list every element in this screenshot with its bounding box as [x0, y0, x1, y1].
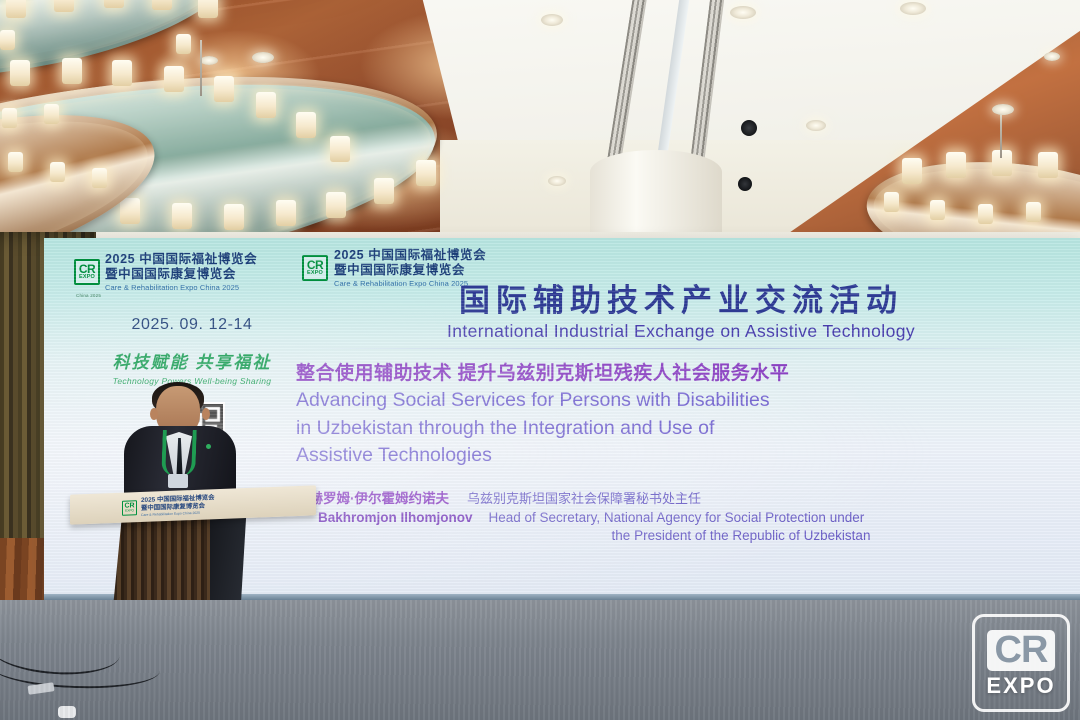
slide-title-en: International Industrial Exchange on Ass…	[296, 321, 1066, 342]
expo-date: 2025. 09. 12-14	[74, 316, 310, 334]
stage-floor	[0, 600, 1080, 720]
conference-photo: CR EXPO 2025 中国国际福祉博览会 暨中国国际康复博览会 Care &…	[0, 0, 1080, 720]
ceiling	[0, 0, 1080, 240]
speaker-title-cn: 乌兹别克斯坦国家社会保障署秘书处主任	[467, 488, 701, 507]
expo-mark-sub: China 2025	[76, 293, 310, 298]
podium-logo: CR EXPO 2025 中国国际福祉博览会 暨中国国际康复博览会 Care &…	[122, 494, 215, 518]
cr-mark-bottom: EXPO	[307, 271, 323, 277]
floor-cable	[0, 624, 121, 679]
downlight	[541, 14, 563, 26]
downlight	[900, 2, 926, 15]
expo-logo-left: CR EXPO 2025 中国国际福祉博览会 暨中国国际康复博览会 Care &…	[74, 252, 257, 292]
cr-expo-mark-icon: CR EXPO	[74, 259, 100, 285]
person-lapel-pin-icon	[206, 444, 211, 449]
expo-name-cn-1: 2025 中国国际福祉博览会	[105, 252, 257, 267]
person-ear	[202, 408, 210, 420]
speaker-name-en: Bakhromjon Ilhomjonov	[318, 510, 473, 525]
downlight	[1044, 52, 1060, 61]
downlight	[548, 176, 566, 186]
cr-mark-bottom: EXPO	[125, 509, 134, 513]
speaker-title-en-2: the President of the Republic of Uzbekis…	[296, 528, 1066, 543]
slide-subtitle-cn: 整合使用辅助技术 提升乌兹别克斯坦残疾人社会服务水平	[296, 363, 1066, 386]
downlight	[730, 6, 756, 19]
expo-slogan-cn: 科技赋能 共享福祉	[74, 348, 310, 373]
cr-mark-bottom: EXPO	[79, 275, 95, 281]
speaker-block: 巴赫罗姆·伊尔霍姆约诺夫 乌兹别克斯坦国家社会保障署秘书处主任 Bakhromj…	[296, 487, 1066, 543]
cable-connector	[28, 682, 55, 695]
slide-content: 国际辅助技术产业交流活动 International Industrial Ex…	[296, 284, 1066, 543]
downlight	[252, 52, 274, 63]
slide-subtitle-en-3: Assistive Technologies	[296, 443, 1066, 469]
expo-name-cn-2: 暨中国国际康复博览会	[105, 267, 257, 282]
cr-expo-watermark: CR EXPO	[972, 614, 1070, 712]
watermark-cr-text: CR	[987, 630, 1056, 671]
slide-subtitle-en-2: in Uzbekistan through the Integration an…	[296, 416, 1066, 442]
speaker-name-cn: 巴赫罗姆·伊尔霍姆约诺夫	[296, 487, 449, 507]
speaker-title-en-1: Head of Secretary, National Agency for S…	[489, 509, 865, 527]
floor-cable	[0, 645, 161, 691]
downlight	[806, 120, 826, 131]
slide-header-logo: CR EXPO 2025 中国国际福祉博览会 暨中国国际康复博览会 Care &…	[302, 248, 486, 288]
person-ear	[150, 408, 158, 420]
cr-expo-mark-icon: CR EXPO	[122, 500, 137, 516]
slide-title-cn: 国际辅助技术产业交流活动	[296, 284, 1066, 318]
slide-subtitle-en-1: Advancing Social Services for Persons wi…	[296, 388, 1066, 414]
ceiling-column	[590, 150, 722, 240]
floor-object	[58, 706, 76, 718]
cr-expo-mark-icon: CR EXPO	[302, 255, 328, 281]
downlight	[200, 56, 218, 65]
ceiling-camera	[741, 120, 757, 136]
expo-name-cn-2: 暨中国国际康复博览会	[334, 263, 486, 278]
watermark-expo-text: EXPO	[986, 675, 1055, 697]
person-badge	[168, 474, 188, 488]
title-divider	[296, 348, 1066, 349]
ceiling-sensor	[738, 177, 752, 191]
expo-name-cn-1: 2025 中国国际福祉博览会	[334, 248, 486, 263]
expo-name-en: Care & Rehabilitation Expo China 2025	[105, 283, 257, 292]
